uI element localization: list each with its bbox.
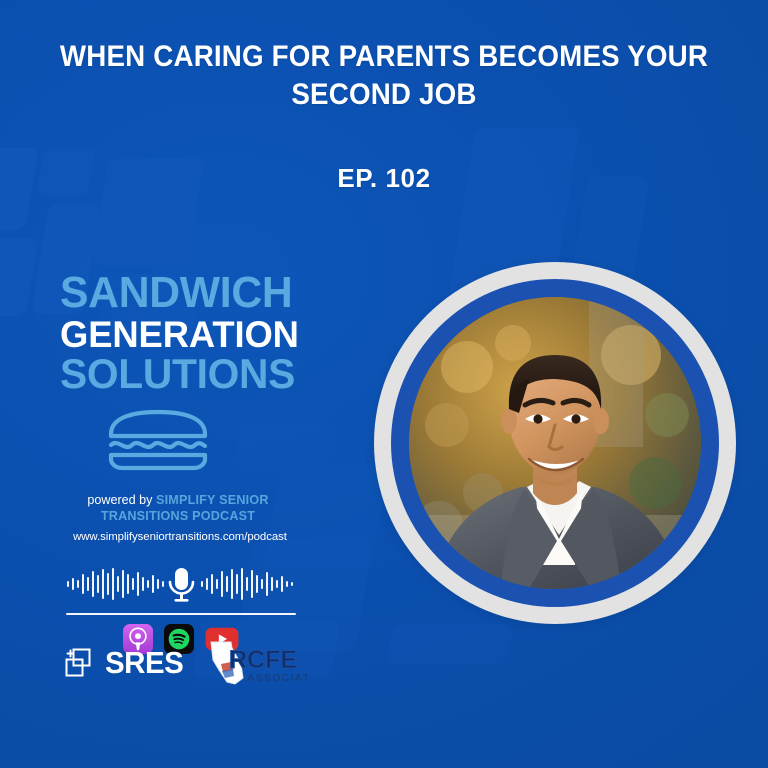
brand-line-generation: GENERATION — [60, 316, 303, 352]
powered-by-block: powered by SIMPLIFY SENIOR TRANSITIONS P… — [60, 492, 296, 524]
sandwich-burger-icon — [106, 409, 310, 476]
brand-line-solutions: SOLUTIONS — [60, 354, 303, 394]
brand-line-sandwich: SANDWICH — [60, 272, 303, 314]
powered-by-prefix: powered by — [87, 493, 152, 507]
rcfe-sublabel: ASSOCIATION — [247, 672, 309, 684]
powered-by-name-line2: TRANSITIONS PODCAST — [101, 509, 255, 523]
sres-label: SRES — [105, 645, 183, 681]
powered-by-name-line1: SIMPLIFY SENIOR — [156, 493, 269, 507]
bg-tile — [387, 624, 513, 664]
sres-squares-icon — [62, 646, 96, 680]
host-portrait-frame — [374, 262, 736, 624]
rcfe-badge[interactable]: RCFE ASSOCIATION — [201, 638, 309, 688]
podcast-cover: WHEN CARING FOR PARENTS BECOMES YOUR SEC… — [0, 0, 768, 768]
sres-badge[interactable]: SRES — [62, 645, 187, 681]
waveform-row — [60, 566, 302, 615]
rcfe-label: RCFE — [229, 646, 297, 674]
divider-line — [66, 613, 296, 615]
podcast-url[interactable]: www.simplifyseniortransitions.com/podcas… — [60, 531, 300, 543]
affiliation-badges: SRES RCFE ASSOCIATION — [62, 638, 309, 688]
audio-waveform-icon — [60, 566, 302, 602]
episode-title: WHEN CARING FOR PARENTS BECOMES YOUR SEC… — [47, 38, 720, 114]
host-photo — [409, 297, 701, 589]
brand-block: SANDWICH GENERATION SOLUTIONS powered by… — [60, 272, 310, 654]
microphone-icon — [170, 568, 193, 602]
title-block: WHEN CARING FOR PARENTS BECOMES YOUR SEC… — [0, 38, 768, 114]
episode-number: EP. 102 — [0, 163, 768, 194]
